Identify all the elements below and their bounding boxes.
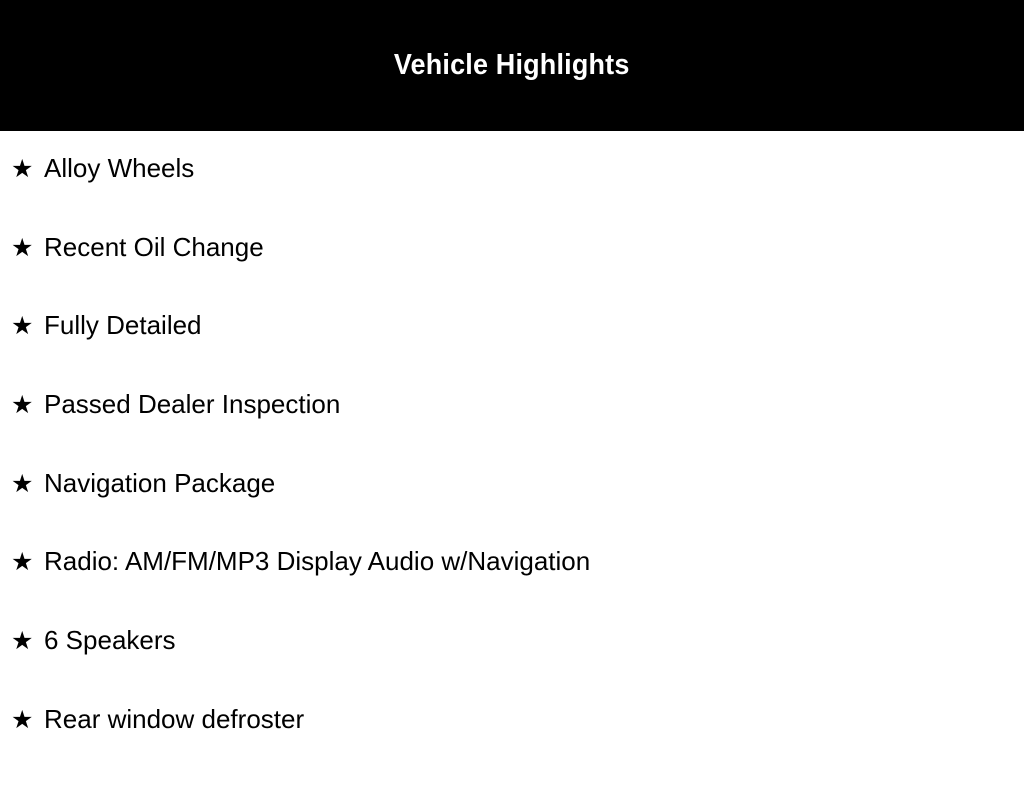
vehicle-highlights-list: ★ Alloy Wheels ★ Recent Oil Change ★ Ful… — [0, 131, 1024, 785]
list-item: ★ Alloy Wheels — [0, 131, 1024, 234]
highlight-label: Alloy Wheels — [44, 155, 194, 181]
vehicle-highlights-page: Vehicle Highlights ★ Alloy Wheels ★ Rece… — [0, 0, 1024, 768]
highlight-label: Fully Detailed — [44, 312, 202, 338]
list-item: ★ Fully Detailed — [0, 312, 1024, 391]
highlight-label: Radio: AM/FM/MP3 Display Audio w/Navigat… — [44, 548, 590, 574]
list-item: ★ Radio: AM/FM/MP3 Display Audio w/Navig… — [0, 548, 1024, 627]
star-icon: ★ — [11, 156, 44, 181]
star-icon: ★ — [11, 628, 44, 653]
star-icon: ★ — [11, 549, 44, 574]
list-item: ★ 6 Speakers — [0, 627, 1024, 706]
star-icon: ★ — [11, 313, 44, 338]
list-item: ★ Navigation Package — [0, 470, 1024, 549]
highlight-label: Navigation Package — [44, 470, 275, 496]
highlight-label: 6 Speakers — [44, 627, 176, 653]
star-icon: ★ — [11, 392, 44, 417]
highlight-label: Recent Oil Change — [44, 234, 264, 260]
star-icon: ★ — [11, 707, 44, 732]
list-item: ★ Passed Dealer Inspection — [0, 391, 1024, 470]
highlight-label: Passed Dealer Inspection — [44, 391, 340, 417]
page-header: Vehicle Highlights — [0, 0, 1024, 131]
star-icon: ★ — [11, 235, 44, 260]
list-item: ★ Recent Oil Change — [0, 234, 1024, 313]
star-icon: ★ — [11, 471, 44, 496]
highlight-label: Rear window defroster — [44, 706, 304, 732]
page-title: Vehicle Highlights — [394, 51, 630, 80]
list-item: ★ Rear window defroster — [0, 706, 1024, 785]
